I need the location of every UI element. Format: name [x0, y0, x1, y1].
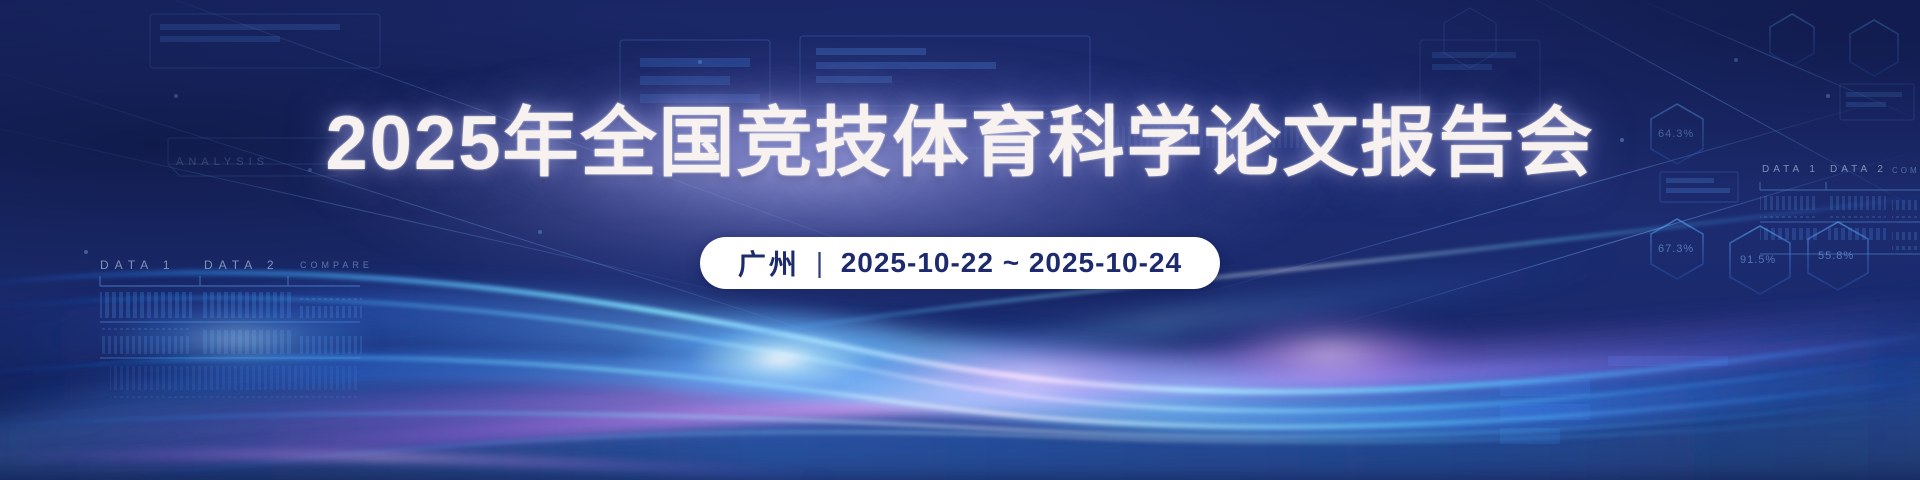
event-city: 广州	[738, 243, 800, 283]
event-meta-pill: 广州 | 2025-10-22 ~ 2025-10-24	[700, 237, 1220, 289]
banner-content: 2025年全国竞技体育科学论文报告会 广州 | 2025-10-22 ~ 202…	[0, 0, 1920, 480]
meta-separator: |	[814, 247, 827, 279]
event-dates: 2025-10-22 ~ 2025-10-24	[841, 247, 1182, 279]
page-title: 2025年全国竞技体育科学论文报告会	[325, 104, 1594, 185]
conference-banner: ANALYSIS DATA 1 DATA 2 COMPARE DATA 1 DA…	[0, 0, 1920, 480]
